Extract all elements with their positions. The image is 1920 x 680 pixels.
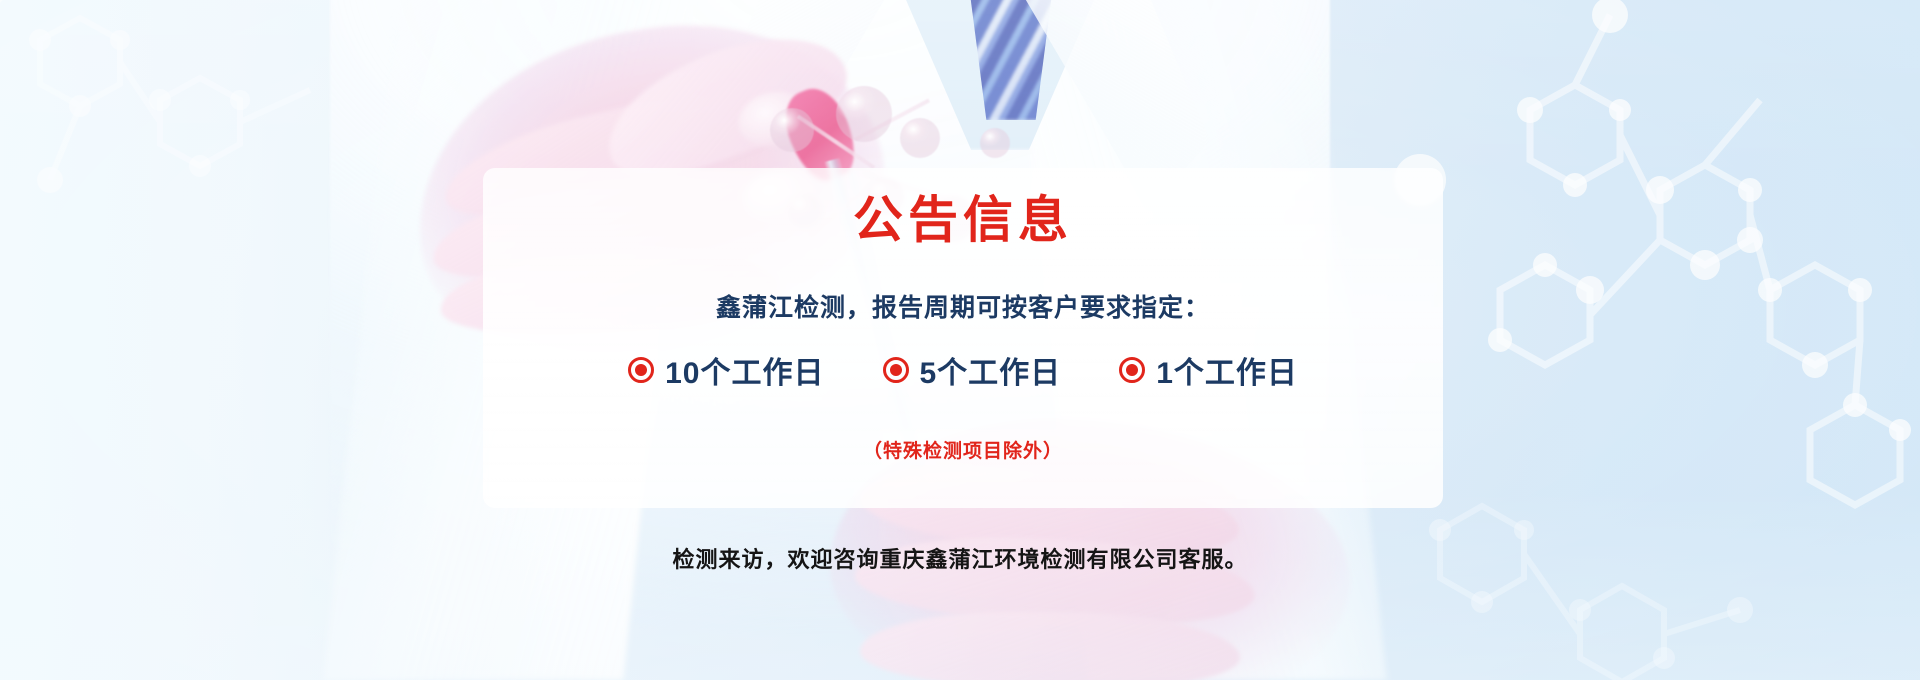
option-item-1[interactable]: 10个工作日 bbox=[628, 348, 824, 392]
page-title: 公告信息 bbox=[853, 192, 1073, 250]
option-label-3: 1个工作日 bbox=[1156, 348, 1298, 392]
turnaround-options-list: 10个工作日 5个工作日 1个工作日 bbox=[628, 348, 1298, 392]
radio-selected-icon[interactable] bbox=[883, 357, 909, 383]
card-note: （特殊检测项目除外） bbox=[863, 436, 1063, 463]
option-item-2[interactable]: 5个工作日 bbox=[883, 348, 1062, 392]
option-label-2: 5个工作日 bbox=[920, 348, 1062, 392]
radio-selected-icon[interactable] bbox=[628, 357, 654, 383]
announcement-card: 公告信息 鑫蒲江检测，报告周期可按客户要求指定： 10个工作日 5个工作日 1个… bbox=[483, 168, 1443, 508]
card-subtitle: 鑫蒲江检测，报告周期可按客户要求指定： bbox=[716, 288, 1210, 324]
radio-selected-icon[interactable] bbox=[1119, 357, 1145, 383]
announcement-banner: 公告信息 鑫蒲江检测，报告周期可按客户要求指定： 10个工作日 5个工作日 1个… bbox=[0, 0, 1920, 680]
option-label-1: 10个工作日 bbox=[665, 348, 824, 392]
footer-contact-text: 检测来访，欢迎咨询重庆鑫蒲江环境检测有限公司客服。 bbox=[0, 542, 1920, 574]
option-item-3[interactable]: 1个工作日 bbox=[1119, 348, 1298, 392]
